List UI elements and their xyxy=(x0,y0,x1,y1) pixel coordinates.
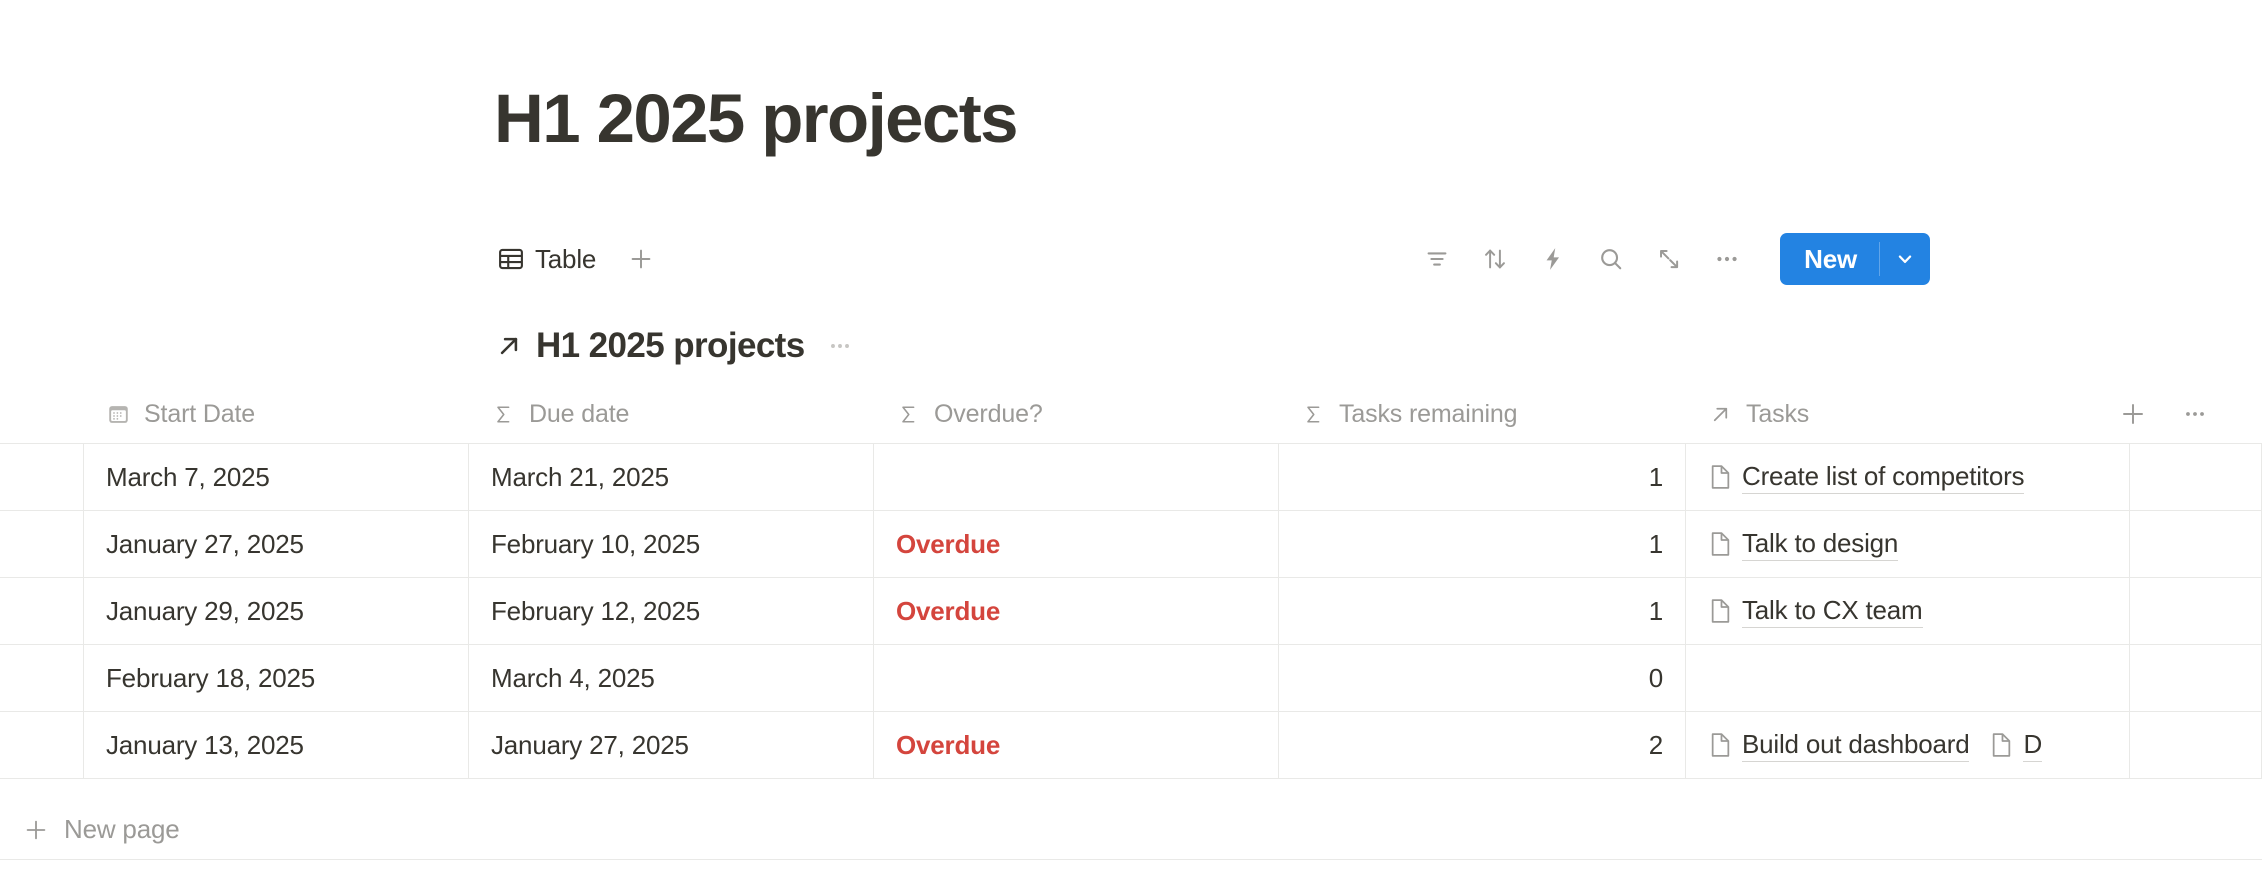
column-header-tasks-remaining[interactable]: Tasks remaining xyxy=(1279,385,1686,443)
new-page-button[interactable]: New page xyxy=(0,800,2262,860)
cell-start-date[interactable]: March 7, 2025 xyxy=(84,444,469,510)
relation-item[interactable]: Build out dashboard xyxy=(1708,729,1969,762)
row-gutter-cell[interactable] xyxy=(0,645,84,711)
tab-table[interactable]: Table xyxy=(494,237,600,281)
filter-icon[interactable] xyxy=(1408,234,1466,284)
table-row[interactable]: March 7, 2025 March 21, 2025 1 Create li… xyxy=(0,444,2262,511)
relation-label: Build out dashboard xyxy=(1742,729,1969,762)
relation-item[interactable]: Talk to CX team xyxy=(1708,595,1923,628)
column-header-due-date[interactable]: Due date xyxy=(469,385,874,443)
table-header-row: Start Date Due date Overdue? xyxy=(0,385,2262,443)
notion-page: H1 2025 projects Table xyxy=(0,0,2262,886)
add-column-button[interactable] xyxy=(2112,393,2154,435)
cell-due-date[interactable]: March 4, 2025 xyxy=(469,645,874,711)
cell-due-date[interactable]: March 21, 2025 xyxy=(469,444,874,510)
cell-tasks[interactable]: Build out dashboard D xyxy=(1686,712,2130,778)
cell-tasks-remaining[interactable]: 1 xyxy=(1279,444,1686,510)
cell-extra[interactable] xyxy=(2130,712,2262,778)
plus-icon xyxy=(22,816,50,844)
page-icon xyxy=(1708,597,1733,625)
table-header-tools xyxy=(2112,385,2262,443)
column-header-tasks[interactable]: Tasks xyxy=(1686,385,2130,443)
table-more-options-icon[interactable] xyxy=(2174,393,2216,435)
add-view-button[interactable] xyxy=(624,242,658,276)
column-header-label: Tasks xyxy=(1746,400,1809,429)
page-title: H1 2025 projects xyxy=(494,78,1017,160)
page-icon xyxy=(1708,463,1733,491)
cell-extra[interactable] xyxy=(2130,578,2262,644)
column-header-label: Start Date xyxy=(144,400,255,429)
row-gutter-header xyxy=(0,385,84,443)
database-title-row: H1 2025 projects xyxy=(494,322,853,370)
cell-tasks-remaining[interactable]: 1 xyxy=(1279,578,1686,644)
cell-extra[interactable] xyxy=(2130,645,2262,711)
cell-extra[interactable] xyxy=(2130,444,2262,510)
sort-icon[interactable] xyxy=(1466,234,1524,284)
new-button-label: New xyxy=(1780,233,1879,285)
expand-icon[interactable] xyxy=(1640,234,1698,284)
column-header-overdue[interactable]: Overdue? xyxy=(874,385,1279,443)
page-icon xyxy=(1708,731,1733,759)
cell-start-date[interactable]: January 13, 2025 xyxy=(84,712,469,778)
cell-tasks-remaining[interactable]: 2 xyxy=(1279,712,1686,778)
table-body: March 7, 2025 March 21, 2025 1 Create li… xyxy=(0,443,2262,779)
cell-tasks-remaining[interactable]: 0 xyxy=(1279,645,1686,711)
cell-overdue[interactable] xyxy=(874,444,1279,510)
database-more-options-icon[interactable] xyxy=(827,333,853,359)
page-icon xyxy=(1708,530,1733,558)
column-header-label: Due date xyxy=(529,400,629,429)
cell-start-date[interactable]: February 18, 2025 xyxy=(84,645,469,711)
cell-tasks[interactable]: Talk to design xyxy=(1686,511,2130,577)
cell-tasks[interactable] xyxy=(1686,645,2130,711)
chevron-down-icon[interactable] xyxy=(1880,233,1930,285)
relation-label: Talk to CX team xyxy=(1742,595,1923,628)
database-table: Start Date Due date Overdue? xyxy=(0,385,2262,779)
calendar-icon xyxy=(106,402,131,427)
relation-label: Talk to design xyxy=(1742,528,1898,561)
cell-tasks[interactable]: Create list of competitors xyxy=(1686,444,2130,510)
view-bar: Table xyxy=(494,228,1930,290)
relation-item[interactable]: D xyxy=(1989,729,2042,762)
relation-item[interactable]: Create list of competitors xyxy=(1708,461,2024,494)
table-icon xyxy=(498,246,524,272)
column-header-label: Overdue? xyxy=(934,400,1043,429)
cell-overdue[interactable]: Overdue xyxy=(874,712,1279,778)
row-gutter-cell[interactable] xyxy=(0,578,84,644)
new-button[interactable]: New xyxy=(1780,233,1930,285)
table-row[interactable]: January 29, 2025 February 12, 2025 Overd… xyxy=(0,578,2262,645)
table-row[interactable]: January 27, 2025 February 10, 2025 Overd… xyxy=(0,511,2262,578)
more-options-icon[interactable] xyxy=(1698,234,1756,284)
cell-due-date[interactable]: January 27, 2025 xyxy=(469,712,874,778)
formula-sigma-icon xyxy=(491,402,516,427)
automation-bolt-icon[interactable] xyxy=(1524,234,1582,284)
cell-overdue[interactable] xyxy=(874,645,1279,711)
cell-due-date[interactable]: February 10, 2025 xyxy=(469,511,874,577)
search-icon[interactable] xyxy=(1582,234,1640,284)
view-actions: New xyxy=(1408,233,1930,285)
view-tab-list: Table xyxy=(494,237,658,281)
cell-overdue[interactable]: Overdue xyxy=(874,511,1279,577)
relation-item[interactable]: Talk to design xyxy=(1708,528,1898,561)
cell-due-date[interactable]: February 12, 2025 xyxy=(469,578,874,644)
new-page-label: New page xyxy=(64,814,179,845)
formula-sigma-icon xyxy=(1301,402,1326,427)
column-header-label: Tasks remaining xyxy=(1339,400,1517,429)
cell-extra[interactable] xyxy=(2130,511,2262,577)
cell-start-date[interactable]: January 29, 2025 xyxy=(84,578,469,644)
relation-label: D xyxy=(2023,729,2042,762)
cell-tasks-remaining[interactable]: 1 xyxy=(1279,511,1686,577)
cell-overdue[interactable]: Overdue xyxy=(874,578,1279,644)
relation-label: Create list of competitors xyxy=(1742,461,2024,494)
cell-start-date[interactable]: January 27, 2025 xyxy=(84,511,469,577)
relation-arrow-icon xyxy=(1708,402,1733,427)
formula-sigma-icon xyxy=(896,402,921,427)
row-gutter-cell[interactable] xyxy=(0,511,84,577)
table-row[interactable]: January 13, 2025 January 27, 2025 Overdu… xyxy=(0,712,2262,779)
row-gutter-cell[interactable] xyxy=(0,712,84,778)
page-icon xyxy=(1989,731,2014,759)
table-row[interactable]: February 18, 2025 March 4, 2025 0 xyxy=(0,645,2262,712)
column-header-start-date[interactable]: Start Date xyxy=(84,385,469,443)
open-link-arrow-icon xyxy=(494,331,524,361)
database-title[interactable]: H1 2025 projects xyxy=(536,326,805,366)
cell-tasks[interactable]: Talk to CX team xyxy=(1686,578,2130,644)
tab-table-label: Table xyxy=(535,244,596,275)
row-gutter-cell[interactable] xyxy=(0,444,84,510)
